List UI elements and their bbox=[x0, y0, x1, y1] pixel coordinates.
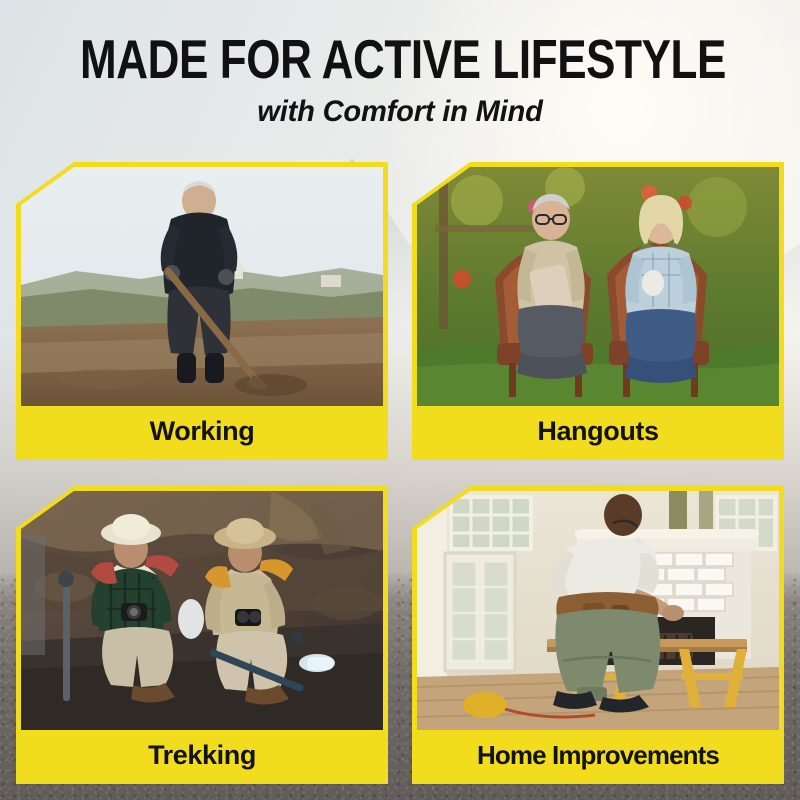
card-photo-working bbox=[21, 167, 383, 406]
lifestyle-card-trekking[interactable]: Trekking bbox=[16, 486, 388, 784]
card-photo-hangouts bbox=[417, 167, 779, 406]
card-label-band: Home Improvements bbox=[417, 730, 779, 779]
card-label-band: Working bbox=[21, 406, 383, 455]
lifestyle-card-hangouts[interactable]: Hangouts bbox=[412, 162, 784, 460]
header: MADE FOR ACTIVE LIFESTYLE with Comfort i… bbox=[0, 0, 800, 150]
lifestyle-card-working[interactable]: Working bbox=[16, 162, 388, 460]
card-label-band: Trekking bbox=[21, 730, 383, 779]
lifestyle-card-grid: Working bbox=[16, 162, 784, 784]
card-label-trekking: Trekking bbox=[148, 741, 256, 769]
card-inner: Working bbox=[21, 167, 383, 455]
card-photo-home-improvements bbox=[417, 491, 779, 730]
card-inner: Hangouts bbox=[417, 167, 779, 455]
card-label-band: Hangouts bbox=[417, 406, 779, 455]
card-label-working: Working bbox=[150, 417, 255, 445]
poster-canvas: MADE FOR ACTIVE LIFESTYLE with Comfort i… bbox=[0, 0, 800, 800]
card-label-hangouts: Hangouts bbox=[537, 417, 658, 445]
lifestyle-card-home-improvements[interactable]: Home Improvements bbox=[412, 486, 784, 784]
card-photo-trekking bbox=[21, 491, 383, 730]
page-title: MADE FOR ACTIVE LIFESTYLE bbox=[80, 31, 720, 87]
page-subtitle: with Comfort in Mind bbox=[12, 96, 788, 128]
card-inner: Trekking bbox=[21, 491, 383, 779]
card-inner: Home Improvements bbox=[417, 491, 779, 779]
card-label-home-improvements: Home Improvements bbox=[477, 741, 719, 769]
